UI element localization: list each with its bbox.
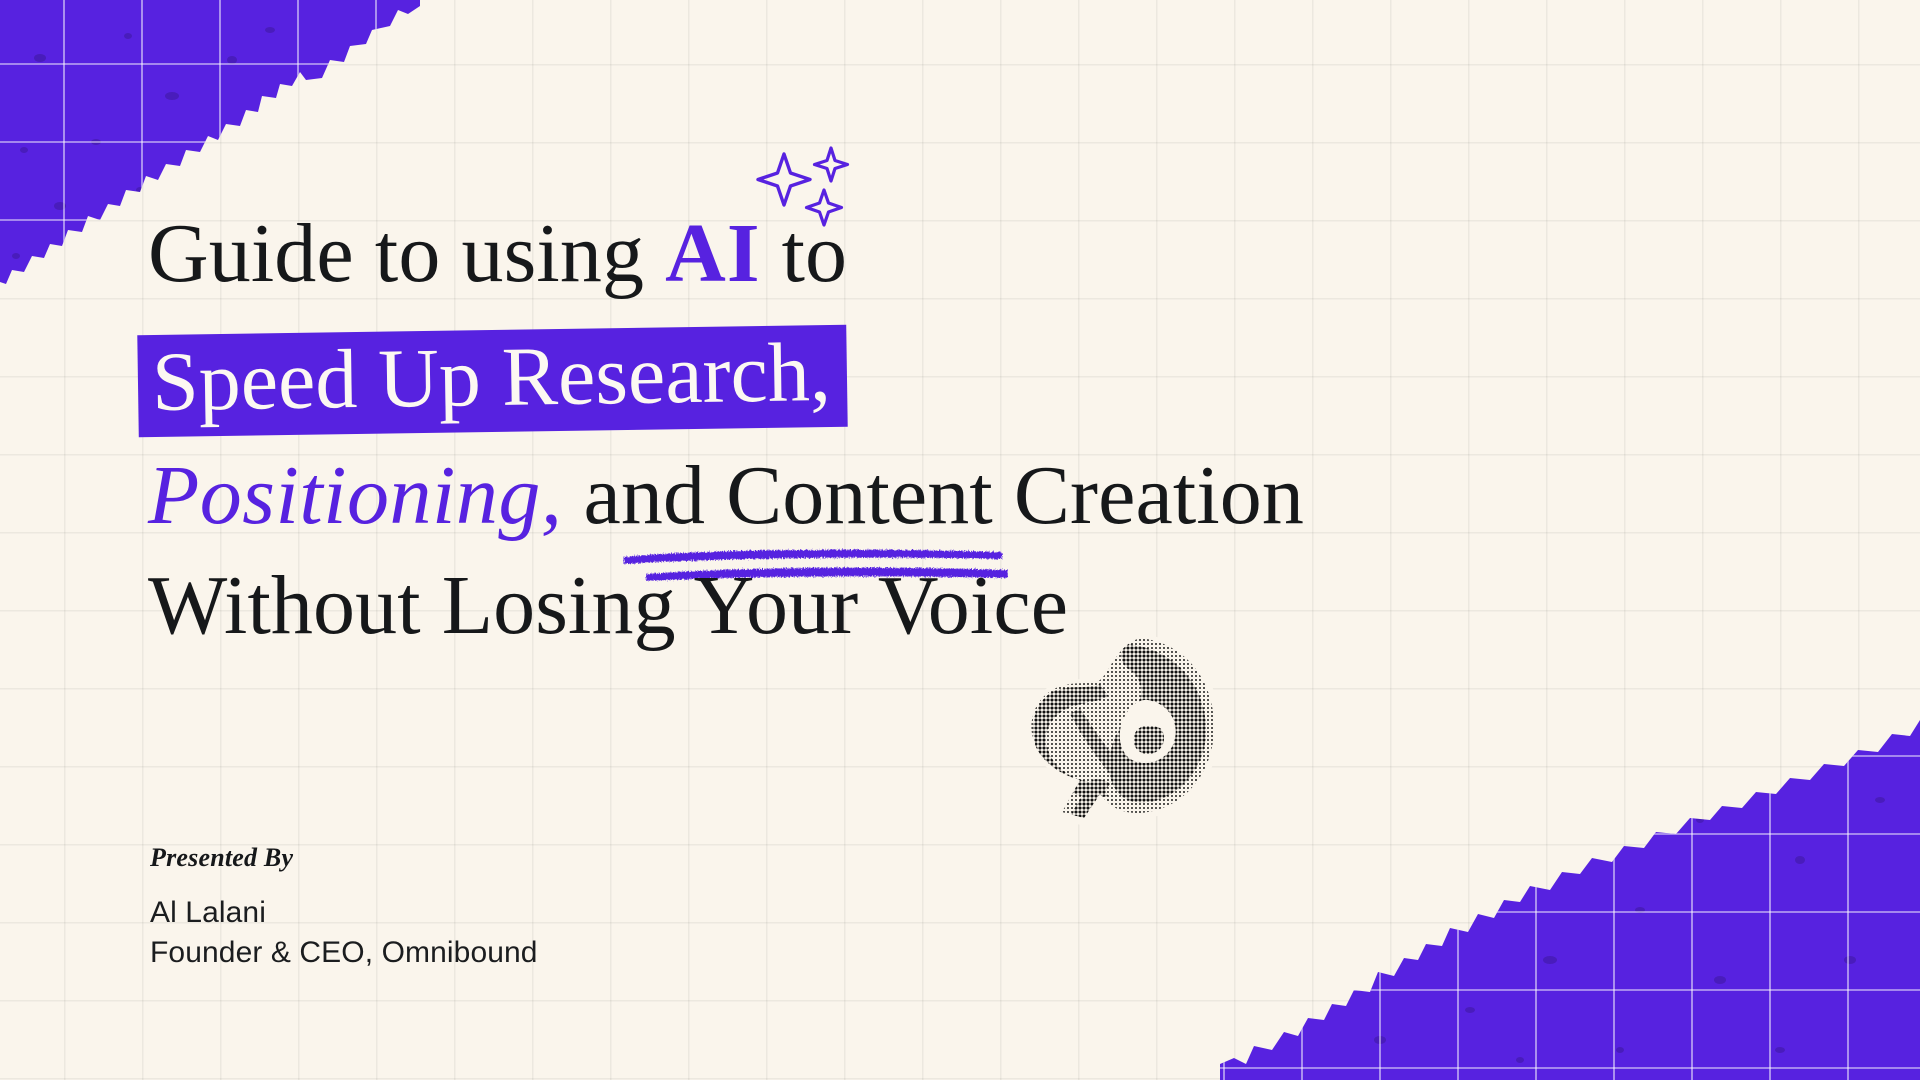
brush-underline-icon — [618, 516, 1008, 556]
headline-block: Guide to using AI to Speed Up Research, … — [148, 212, 1328, 648]
presented-by-label: Presented By — [150, 843, 538, 873]
headline-positioning-accent: Positioning, — [148, 449, 562, 542]
presenter-block: Presented By Al Lalani Founder & CEO, Om… — [150, 843, 538, 972]
headline-line-1: Guide to using AI to — [148, 212, 1328, 296]
headline-line-3: Positioning, and Content Creation — [148, 454, 1328, 538]
headline-line1-pre: Guide to using — [148, 207, 665, 300]
slide-canvas: Guide to using AI to Speed Up Research, … — [0, 0, 1920, 1080]
presenter-name: Al Lalani — [150, 893, 538, 933]
headline-line-2: Speed Up Research, — [148, 330, 1328, 428]
headline-ai-accent: AI — [665, 207, 760, 300]
headline-highlight-text: Speed Up Research, — [137, 325, 847, 438]
torn-corner-bottom-right — [1220, 660, 1920, 1080]
megaphone-halftone-icon — [1022, 630, 1222, 830]
presenter-role: Founder & CEO, Omnibound — [150, 933, 538, 973]
sparkles-icon — [752, 146, 862, 232]
